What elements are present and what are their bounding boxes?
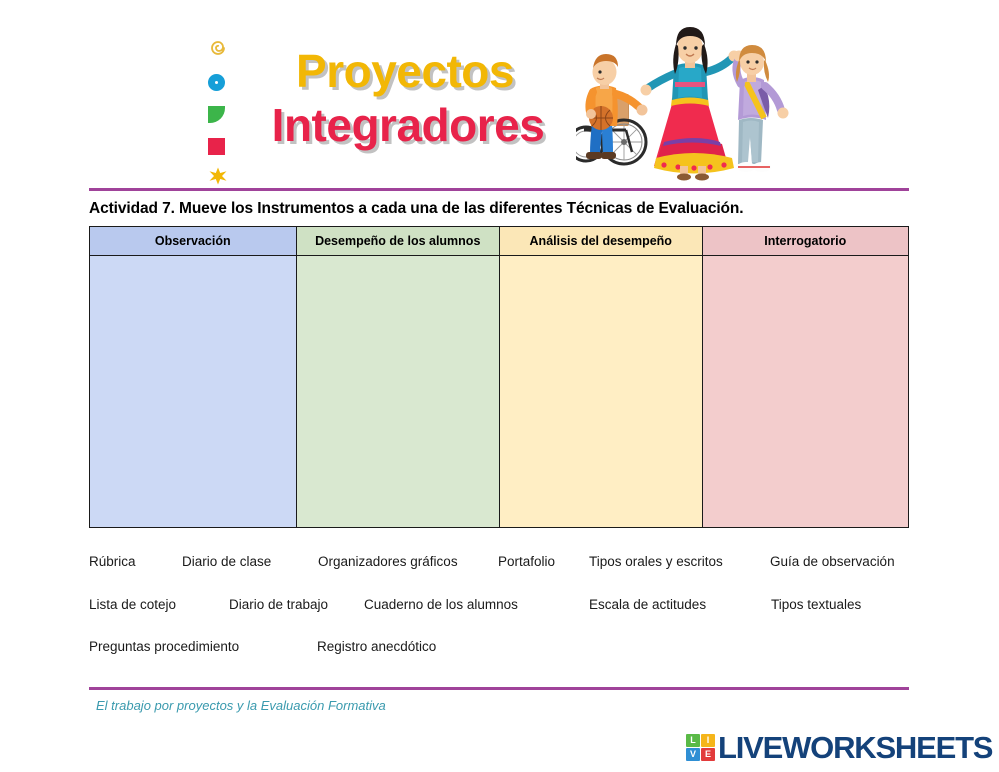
word-bank-item[interactable]: Rúbrica (89, 552, 136, 572)
drop-zone-observacion[interactable] (90, 256, 296, 527)
live-square-l: L (686, 734, 700, 747)
column-header: Análisis del desempeño (500, 227, 702, 256)
live-squares-icon: L I V E (686, 734, 715, 761)
word-bank-item[interactable]: Cuaderno de los alumnos (364, 595, 518, 615)
word-bank-item[interactable]: Guía de observación (770, 552, 895, 572)
word-bank-item[interactable]: Registro anecdótico (317, 637, 436, 657)
liveworksheets-wordmark: LIVEWORKSHEETS (718, 732, 992, 763)
page-title: Actividad 7. Mueve los Instrumentos a ca… (89, 200, 743, 218)
word-bank-item[interactable]: Tipos orales y escritos (589, 552, 723, 572)
worksheet-page: { "header": { "title_line_1": "Proyectos… (0, 0, 999, 772)
drop-zone-interrogatorio[interactable] (703, 256, 909, 527)
live-square-v: V (686, 748, 700, 761)
girl-with-backpack (734, 45, 789, 172)
word-bank-item[interactable]: Diario de clase (182, 552, 271, 572)
word-bank-item[interactable]: Tipos textuales (771, 595, 861, 615)
word-bank-row: Lista de cotejoDiario de trabajoCuaderno… (89, 595, 919, 615)
leaf-quarter-icon (208, 106, 225, 123)
column-header: Interrogatorio (703, 227, 909, 256)
table-column-interrogatorio: Interrogatorio (703, 227, 909, 527)
evaluation-techniques-table: Observación Desempeño de los alumnos Aná… (89, 226, 909, 528)
divider-bottom (89, 687, 909, 690)
spiral-icon (208, 38, 228, 58)
live-square-i: I (701, 734, 715, 747)
drop-zone-desempeno-alumnos[interactable] (297, 256, 500, 527)
word-bank-row: Preguntas procedimientoRegistro anecdóti… (89, 637, 919, 657)
divider-top (89, 188, 909, 191)
three-students-illustration (576, 26, 791, 186)
page-header: Proyectos Integradores (0, 0, 999, 186)
drop-zone-analisis-desempeno[interactable] (500, 256, 702, 527)
word-bank-row: RúbricaDiario de claseOrganizadores gráf… (89, 552, 919, 572)
word-bank-item[interactable]: Portafolio (498, 552, 555, 572)
word-bank-item[interactable]: Organizadores gráficos (318, 552, 458, 572)
circle-ring-icon (208, 74, 225, 91)
title-line-integradores: Integradores (256, 98, 560, 152)
word-bank-item[interactable]: Escala de actitudes (589, 595, 706, 615)
square-icon (208, 138, 225, 155)
worksheet-title: Proyectos Integradores (250, 44, 560, 152)
girl-in-traditional-dress (641, 27, 740, 181)
boy-in-wheelchair-with-basketball (576, 54, 648, 164)
table-column-observacion: Observación (90, 227, 297, 527)
table-column-desempeno-alumnos: Desempeño de los alumnos (297, 227, 501, 527)
table-column-analisis-desempeno: Análisis del desempeño (500, 227, 703, 527)
decoration-column (208, 38, 238, 178)
word-bank-item[interactable]: Preguntas procedimiento (89, 637, 239, 657)
word-bank-item[interactable]: Lista de cotejo (89, 595, 176, 615)
footer-note: El trabajo por proyectos y la Evaluación… (96, 698, 386, 713)
star-burst-icon (208, 166, 228, 186)
liveworksheets-logo[interactable]: L I V E LIVEWORKSHEETS (686, 729, 992, 765)
column-header: Observación (90, 227, 296, 256)
title-line-proyectos: Proyectos (250, 44, 560, 98)
word-bank: RúbricaDiario de claseOrganizadores gráf… (89, 548, 919, 668)
column-header: Desempeño de los alumnos (297, 227, 500, 256)
word-bank-item[interactable]: Diario de trabajo (229, 595, 328, 615)
live-square-e: E (701, 748, 715, 761)
